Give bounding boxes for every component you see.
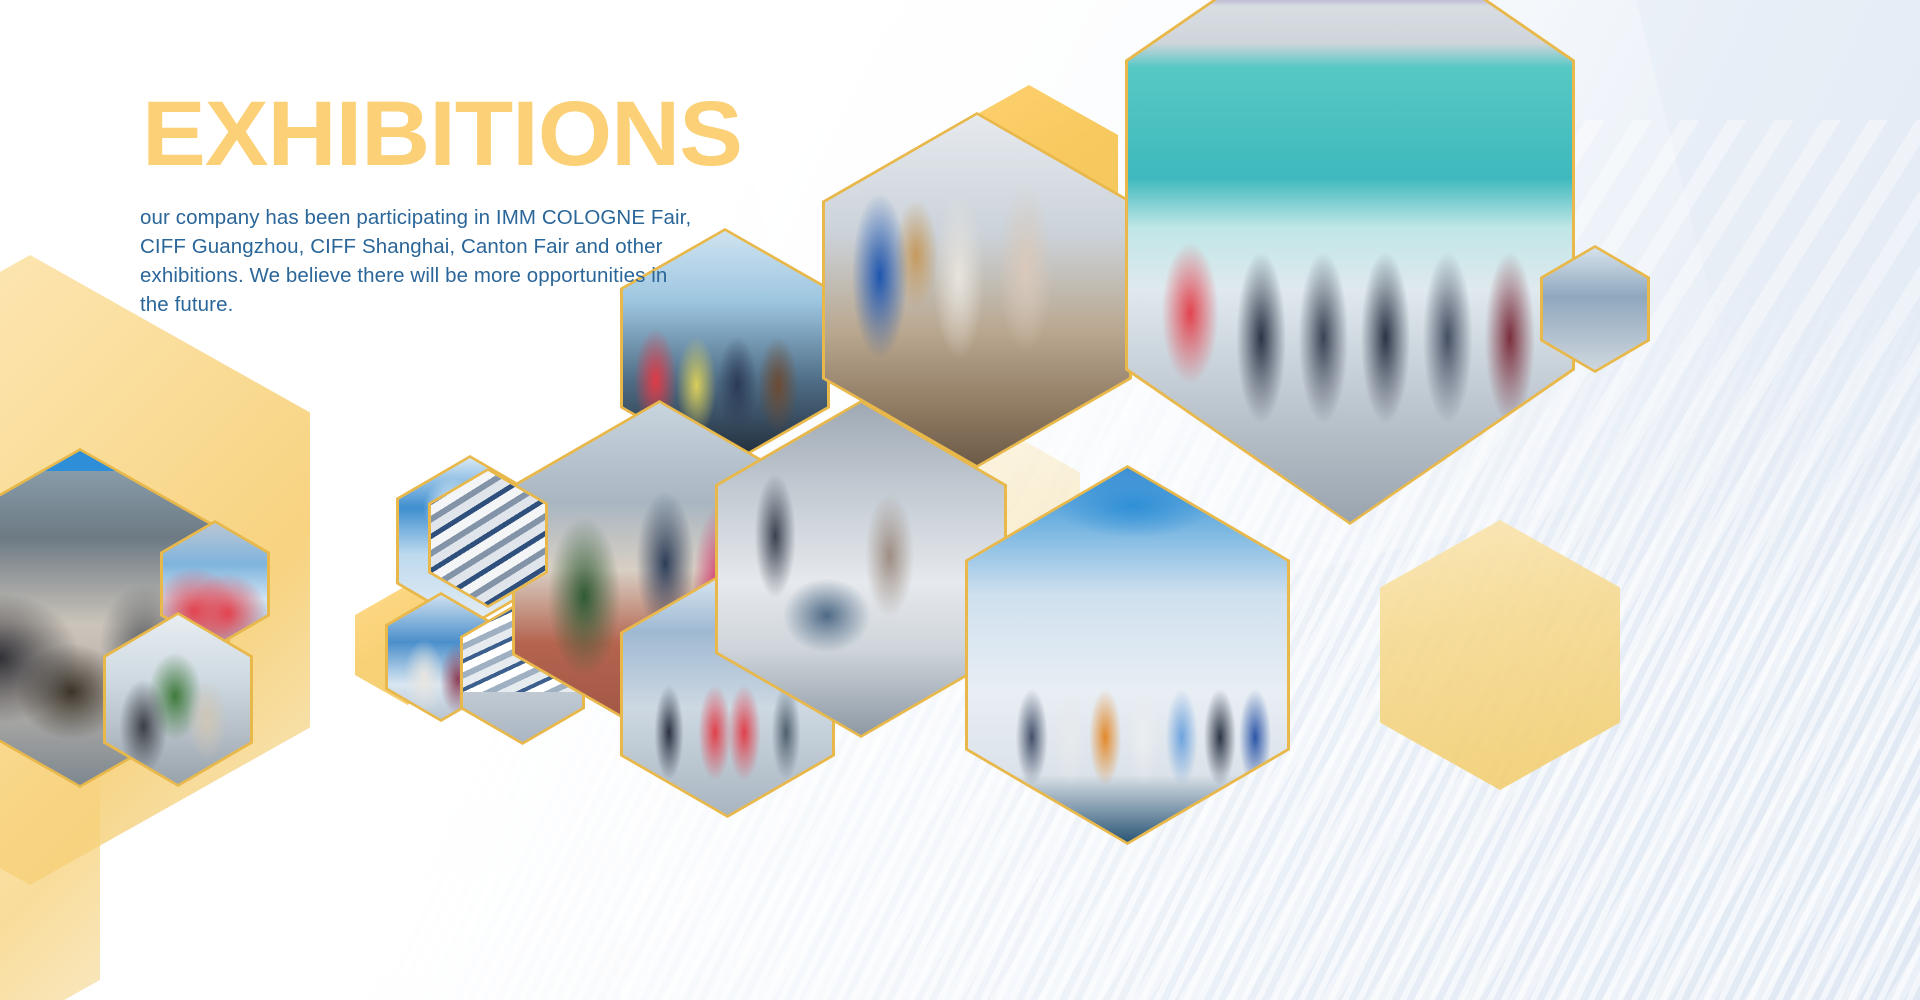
headline-block: EXHIBITIONS our company has been partici… xyxy=(140,92,700,319)
photo-right-edge-upper xyxy=(1543,248,1647,370)
exhibitions-banner: EXHIBITIONS our company has been partici… xyxy=(0,0,1920,1000)
page-title: EXHIBITIONS xyxy=(142,92,722,177)
photo-clip xyxy=(1543,248,1647,370)
page-description: our company has been participating in IM… xyxy=(140,203,700,319)
